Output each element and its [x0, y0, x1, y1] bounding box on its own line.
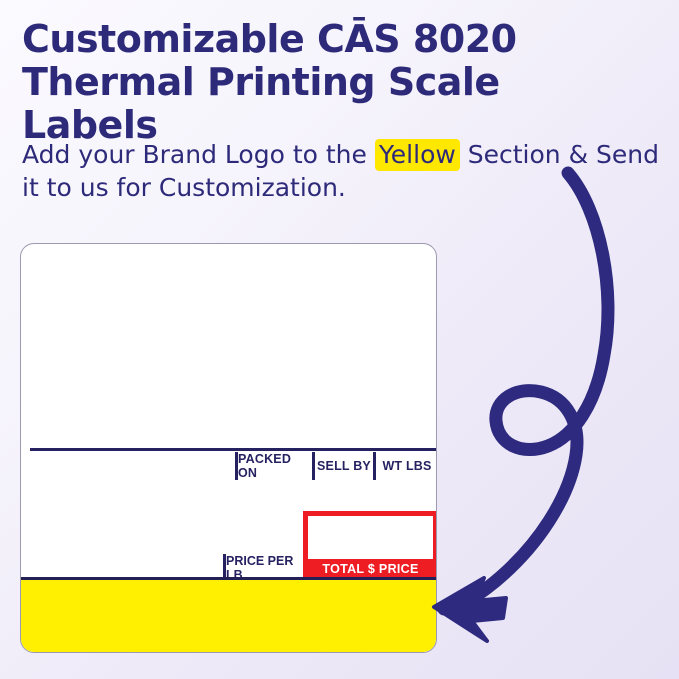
subheading-text-before: Add your Brand Logo to the	[22, 140, 375, 169]
arrow-head-icon	[434, 578, 506, 641]
label-field-sell-by: SELL BY	[312, 452, 373, 480]
scale-label-mockup: PACKED ON SELL BY WT LBS PRICE PER LB TO…	[20, 243, 437, 653]
arrow-stroke-group	[434, 173, 608, 641]
label-field-wt-lbs: WT LBS	[373, 452, 437, 480]
label-header-row: PACKED ON SELL BY WT LBS	[21, 452, 436, 480]
arrow-curve-path	[444, 173, 608, 609]
label-field-packed-on: PACKED ON	[235, 452, 312, 480]
label-yellow-branding-section	[21, 580, 436, 652]
label-total-price-box: TOTAL $ PRICE	[303, 511, 437, 579]
label-total-price-value	[308, 516, 433, 559]
label-divider-top	[30, 448, 436, 451]
page-title: Customizable CĀS 8020 Thermal Printing S…	[22, 18, 642, 147]
label-total-price-caption: TOTAL $ PRICE	[303, 559, 437, 578]
label-blank-product-area	[21, 244, 436, 449]
infographic-canvas: Customizable CĀS 8020 Thermal Printing S…	[0, 0, 679, 679]
subheading: Add your Brand Logo to the Yellow Sectio…	[22, 138, 662, 204]
yellow-highlight-word: Yellow	[375, 139, 460, 171]
